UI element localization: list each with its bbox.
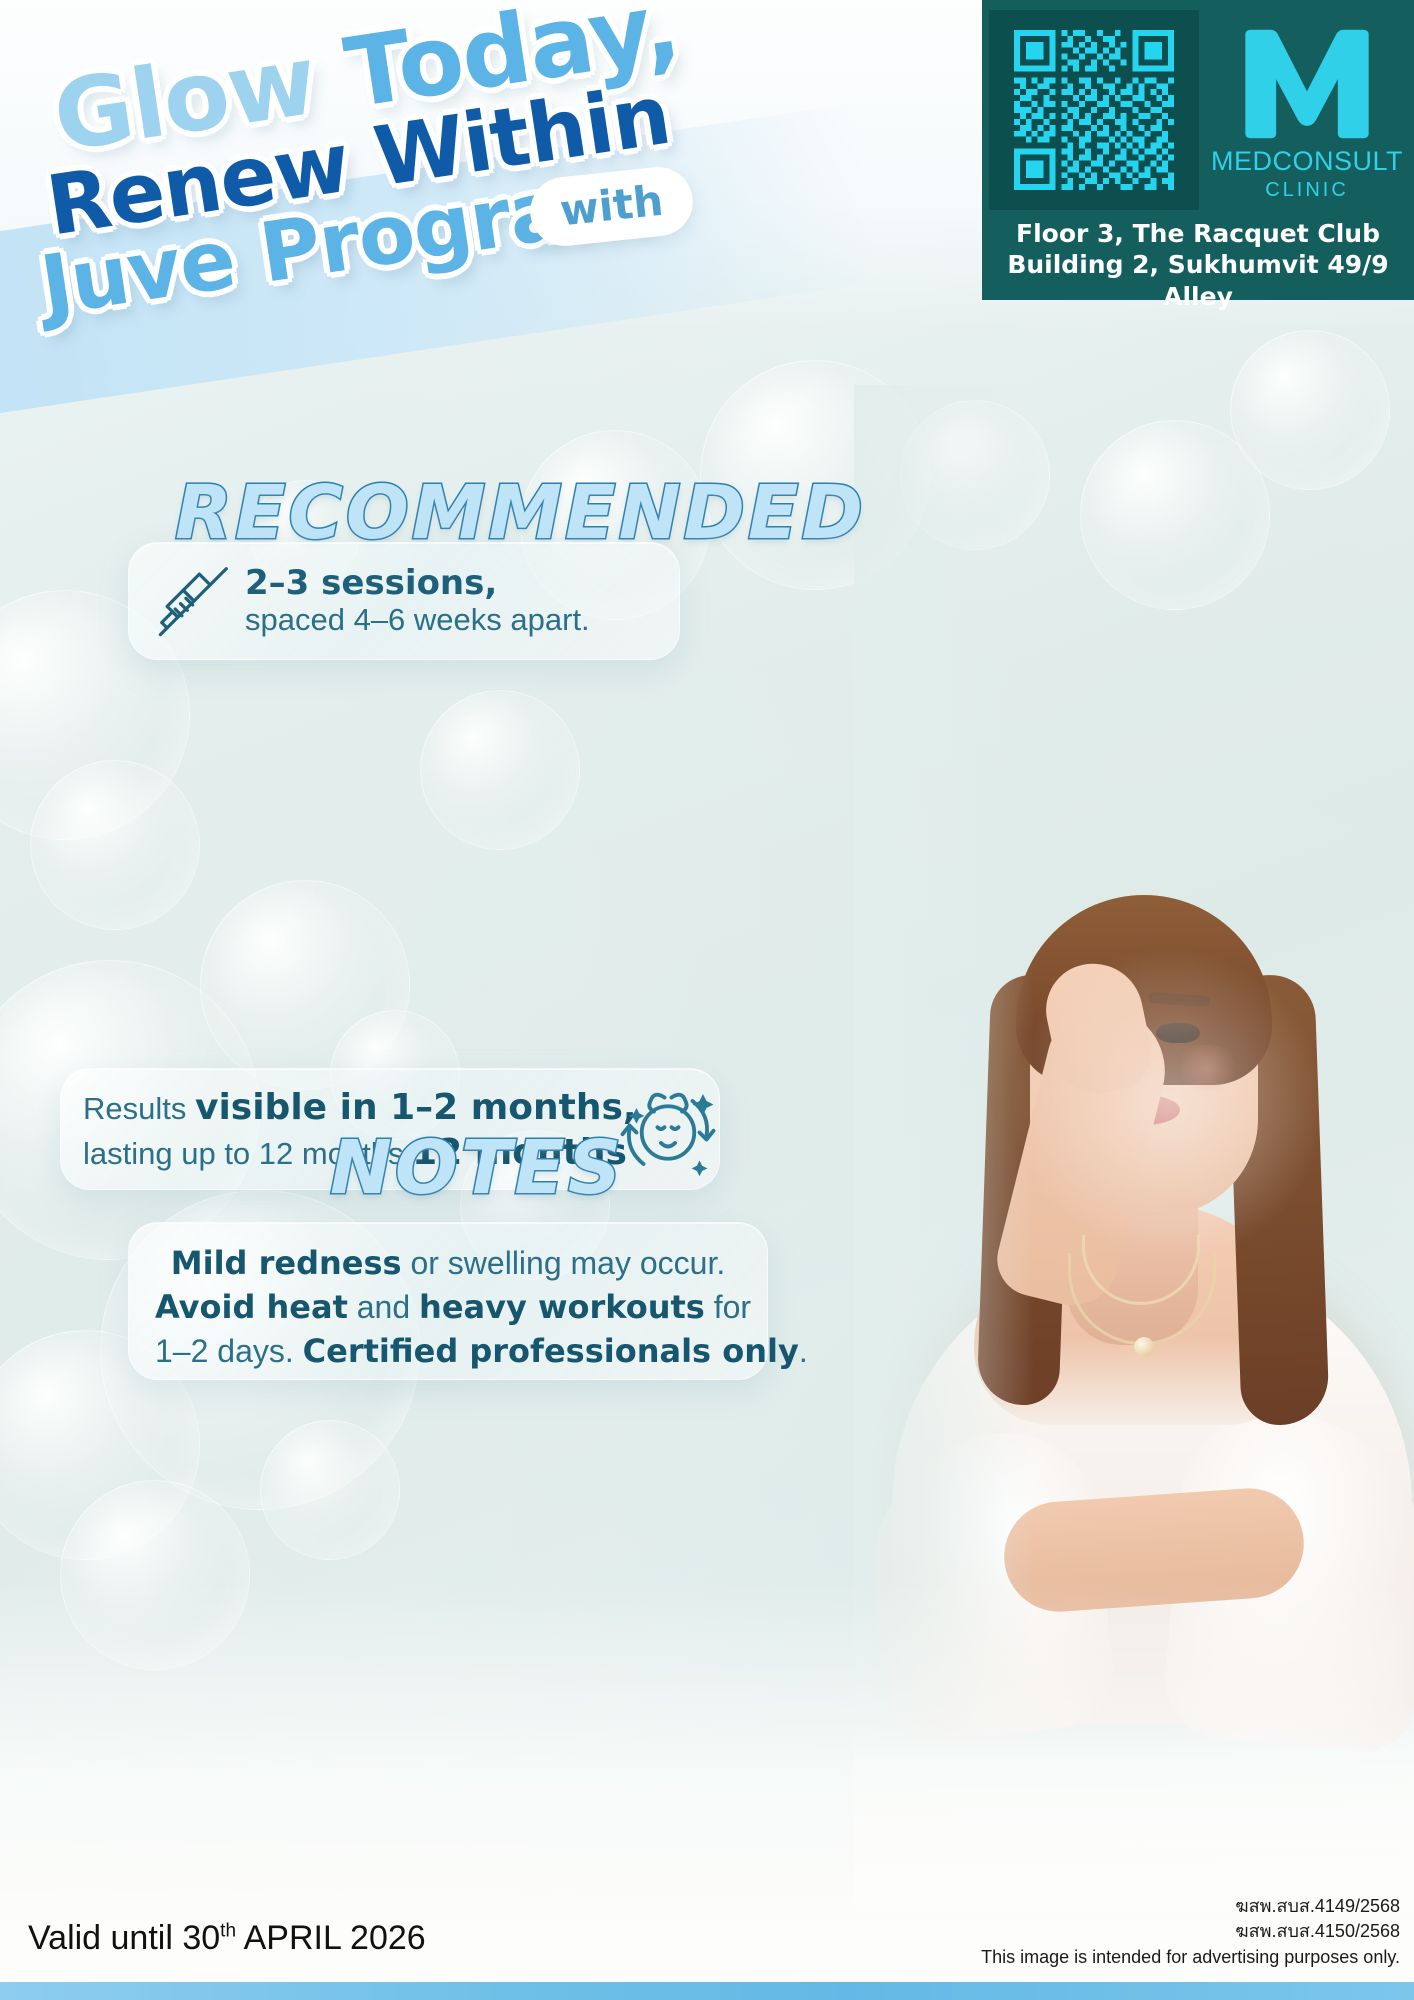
notes-l1-bold: Mild redness bbox=[171, 1244, 402, 1282]
syringe-icon bbox=[151, 558, 237, 644]
clinic-address: Floor 3, The Racquet Club Building 2, Su… bbox=[982, 218, 1414, 312]
sessions-text: 2–3 sessions, spaced 4–6 weeks apart. bbox=[245, 564, 590, 638]
sessions-line-1: 2–3 sessions, bbox=[245, 564, 590, 602]
brand-name: MEDCONSULT bbox=[1211, 148, 1403, 175]
advertising-disclaimer: This image is intended for advertising p… bbox=[981, 1945, 1400, 1970]
medconsult-m-logo-icon bbox=[1233, 24, 1381, 144]
notes-l2-bold-2: heavy workouts bbox=[419, 1288, 705, 1326]
notes-heading: NOTES bbox=[330, 1125, 624, 1211]
footer-legal-block: ฆสพ.สบส.4149/2568 ฆสพ.สบส.4150/2568 This… bbox=[981, 1894, 1400, 1970]
notes-l3-text-2: . bbox=[799, 1333, 808, 1369]
headline-group: Glow Today, Renew Within Juve Program wi… bbox=[0, 0, 760, 360]
brand-subtitle: CLINIC bbox=[1265, 179, 1349, 202]
notes-card: Mild redness or swelling may occur. Avoi… bbox=[128, 1222, 768, 1380]
clinic-logo-panel: MEDCONSULT CLINIC Floor 3, The Racquet C… bbox=[982, 0, 1414, 300]
logo-panel-row: MEDCONSULT CLINIC bbox=[982, 0, 1414, 210]
notes-l2-bold-1: Avoid heat bbox=[155, 1288, 348, 1326]
notes-l2-text-1: and bbox=[348, 1289, 419, 1325]
model-pendant bbox=[1134, 1337, 1154, 1357]
qr-code-container[interactable] bbox=[989, 10, 1199, 210]
notes-l1-text: or swelling may occur. bbox=[402, 1245, 726, 1281]
footer-accent-strip bbox=[0, 1982, 1414, 2000]
notes-line-2: Avoid heat and heavy workouts for bbox=[155, 1285, 741, 1329]
notes-line-1: Mild redness or swelling may occur. bbox=[155, 1241, 741, 1285]
sessions-line-2: spaced 4–6 weeks apart. bbox=[245, 602, 590, 638]
results-line-1-bold: visible in 1–2 months, bbox=[195, 1087, 637, 1128]
promotional-poster: Glow Today, Renew Within Juve Program wi… bbox=[0, 0, 1414, 2000]
notes-l3-text-1: 1–2 days. bbox=[155, 1333, 303, 1369]
validity-ordinal: th bbox=[220, 1921, 236, 1942]
brand-logo-block: MEDCONSULT CLINIC bbox=[1207, 10, 1407, 202]
address-line-2: Building 2, Sukhumvit 49/9 Alley bbox=[982, 249, 1414, 312]
model-glow bbox=[1004, 945, 1334, 1265]
with-label: with bbox=[558, 176, 666, 236]
validity-suffix: APRIL 2026 bbox=[236, 1919, 426, 1957]
sessions-card: 2–3 sessions, spaced 4–6 weeks apart. bbox=[128, 542, 680, 660]
registration-line-1: ฆสพ.สบส.4149/2568 bbox=[981, 1894, 1400, 1918]
registration-line-2: ฆสพ.สบส.4150/2568 bbox=[981, 1919, 1400, 1943]
validity-text: Valid until 30th APRIL 2026 bbox=[28, 1919, 426, 1958]
validity-prefix: Valid until 30 bbox=[28, 1919, 220, 1957]
notes-l2-text-2: for bbox=[705, 1289, 751, 1325]
results-line-1-plain: Results bbox=[83, 1091, 195, 1126]
qr-code-icon[interactable] bbox=[1003, 24, 1185, 196]
notes-l3-bold: Certified professionals only bbox=[303, 1332, 799, 1370]
notes-line-3: 1–2 days. Certified professionals only. bbox=[155, 1329, 741, 1373]
face-refresh-icon bbox=[609, 1073, 727, 1185]
address-line-1: Floor 3, The Racquet Club bbox=[982, 218, 1414, 249]
